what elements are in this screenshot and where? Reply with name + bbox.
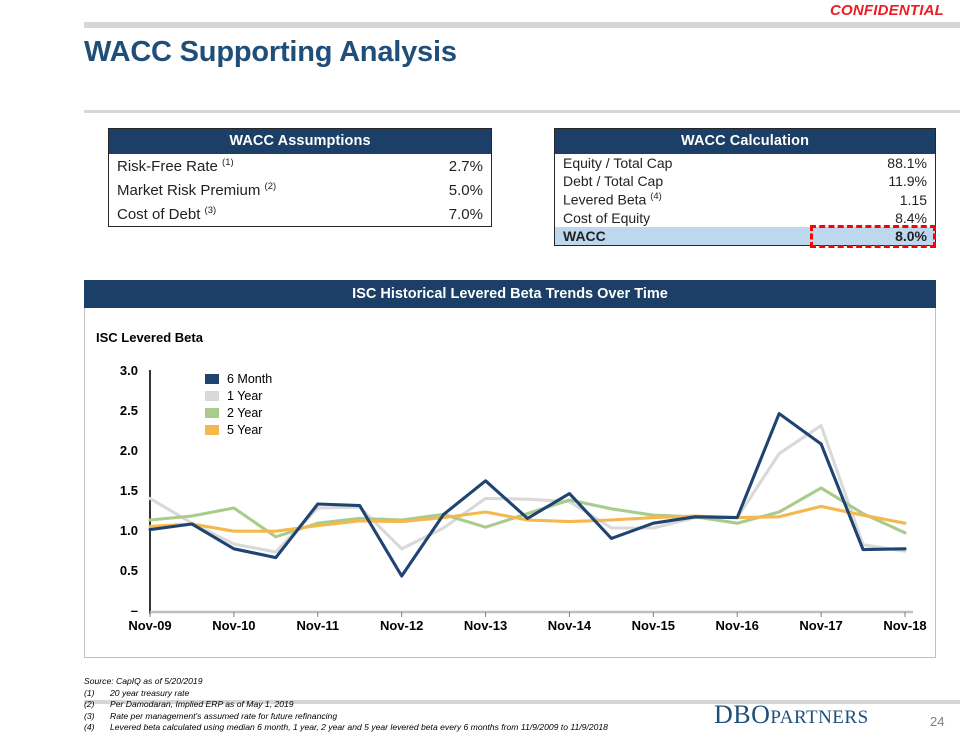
logo-primary: DBO [714, 700, 770, 729]
footnote-number: (2) [84, 699, 110, 711]
y-tick-label: – [96, 603, 138, 618]
slide: CONFIDENTIAL WACC Supporting Analysis WA… [0, 0, 960, 735]
page-number: 24 [930, 714, 944, 729]
series-line-6-month [150, 414, 905, 576]
footnote-text: Per Damodaran, Implied ERP as of May 1, … [110, 699, 294, 711]
x-tick-label: Nov-12 [362, 618, 442, 633]
x-tick-label: Nov-17 [781, 618, 861, 633]
x-tick-label: Nov-13 [446, 618, 526, 633]
y-tick-label: 3.0 [96, 363, 138, 378]
y-tick-label: 0.5 [96, 563, 138, 578]
footnote-text: Levered beta calculated using median 6 m… [110, 722, 608, 734]
x-tick-label: Nov-10 [194, 618, 274, 633]
y-tick-label: 1.5 [96, 483, 138, 498]
source-note: Source: CapIQ as of 5/20/2019 [84, 676, 724, 688]
footnotes: Source: CapIQ as of 5/20/2019 (1) 20 yea… [84, 676, 724, 734]
footnote-item: (1) 20 year treasury rate [84, 688, 724, 700]
y-tick-label: 1.0 [96, 523, 138, 538]
y-tick-label: 2.0 [96, 443, 138, 458]
y-tick-label: 2.5 [96, 403, 138, 418]
footnote-item: (4) Levered beta calculated using median… [84, 722, 724, 734]
x-tick-label: Nov-15 [613, 618, 693, 633]
footnote-item: (2) Per Damodaran, Implied ERP as of May… [84, 699, 724, 711]
footnote-number: (4) [84, 722, 110, 734]
footnote-item: (3) Rate per management's assumed rate f… [84, 711, 724, 723]
footnote-text: Rate per management's assumed rate for f… [110, 711, 337, 723]
footnote-number: (1) [84, 688, 110, 700]
dbo-partners-logo: DBOPARTNERS [714, 700, 869, 730]
series-line-1-year [150, 426, 905, 552]
x-tick-label: Nov-09 [110, 618, 190, 633]
footnote-text: 20 year treasury rate [110, 688, 189, 700]
logo-secondary: PARTNERS [770, 707, 868, 728]
x-tick-label: Nov-18 [865, 618, 945, 633]
x-tick-label: Nov-14 [529, 618, 609, 633]
x-tick-label: Nov-16 [697, 618, 777, 633]
footnote-number: (3) [84, 711, 110, 723]
x-tick-label: Nov-11 [278, 618, 358, 633]
